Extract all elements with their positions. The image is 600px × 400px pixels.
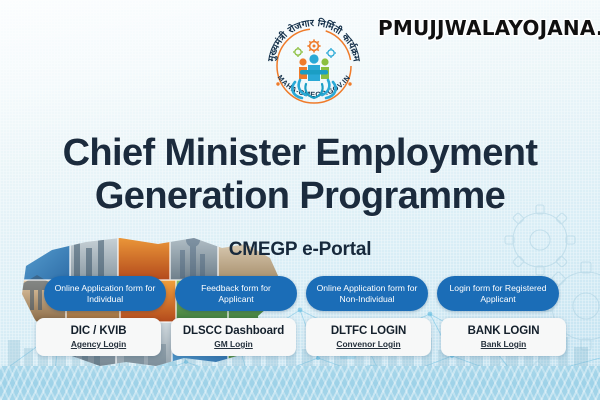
- card-title: BANK LOGIN: [468, 324, 540, 338]
- pill-login-registered-applicant[interactable]: Login form for Registered Applicant: [437, 276, 559, 311]
- pill-button-row: Online Application form for Individual F…: [44, 276, 559, 311]
- card-title: DLTFC LOGIN: [331, 324, 406, 338]
- card-subtitle-link[interactable]: Bank Login: [481, 339, 527, 350]
- card-dic-kvib[interactable]: DIC / KVIB Agency Login: [36, 318, 161, 356]
- login-card-row: DIC / KVIB Agency Login DLSCC Dashboard …: [36, 318, 566, 356]
- portal-subtitle: CMEGP e-Portal: [0, 239, 600, 261]
- card-subtitle-link[interactable]: Agency Login: [71, 339, 126, 350]
- maha-cmegp-logo: मुख्यमंत्री रोजगार निर्मिती कार्यक्रम MA…: [262, 12, 366, 116]
- page-title-line-1: Chief Minister Employment: [63, 132, 538, 174]
- card-dlscc-dashboard[interactable]: DLSCC Dashboard GM Login: [171, 318, 296, 356]
- card-subtitle-link[interactable]: Convenor Login: [336, 339, 400, 350]
- card-dltfc-login[interactable]: DLTFC LOGIN Convenor Login: [306, 318, 431, 356]
- page-title-line-2: Generation Programme: [0, 175, 600, 218]
- site-watermark: PMUJJWALAYOJANA.IN: [378, 16, 600, 40]
- card-title: DLSCC Dashboard: [183, 324, 284, 338]
- page-root: मुख्यमंत्री रोजगार निर्मिती कार्यक्रम MA…: [0, 0, 600, 400]
- pill-label: Online Application form for Non-Individu…: [314, 283, 420, 305]
- page-title: Chief Minister Employment Generation Pro…: [0, 132, 600, 218]
- pill-online-application-individual[interactable]: Online Application form for Individual: [44, 276, 166, 311]
- card-bank-login[interactable]: BANK LOGIN Bank Login: [441, 318, 566, 356]
- card-title: DIC / KVIB: [71, 324, 127, 338]
- pill-label: Feedback form for Applicant: [183, 283, 289, 305]
- pill-label: Login form for Registered Applicant: [445, 283, 551, 305]
- pill-online-application-non-individual[interactable]: Online Application form for Non-Individu…: [306, 276, 428, 311]
- pill-feedback-form-applicant[interactable]: Feedback form for Applicant: [175, 276, 297, 311]
- card-subtitle-link[interactable]: GM Login: [214, 339, 253, 350]
- bottom-blue-band: [0, 366, 600, 400]
- pill-label: Online Application form for Individual: [52, 283, 158, 305]
